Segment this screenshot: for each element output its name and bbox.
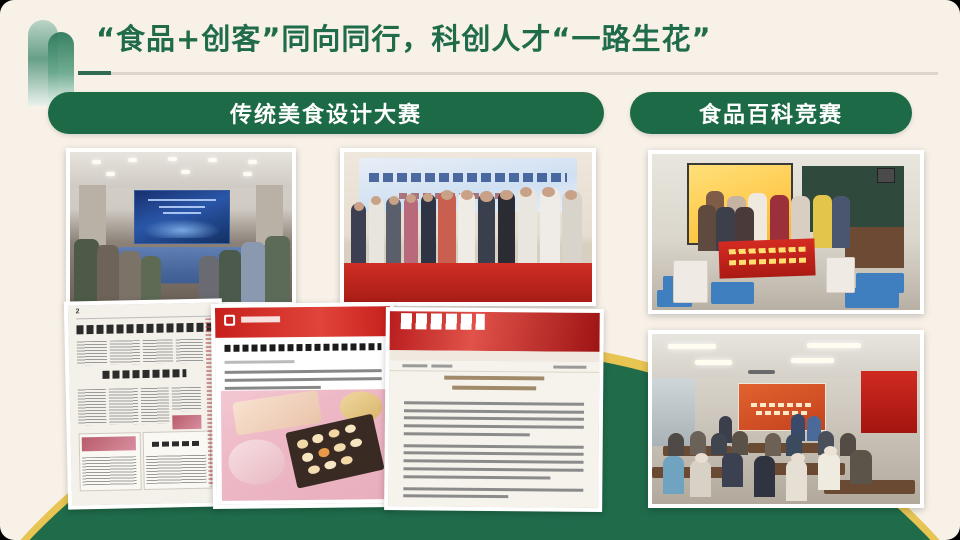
section-banner-food-encyclopedia-competition[interactable]: 食品百科竞赛 [630,92,912,134]
title-divider [78,72,938,75]
photo-group[interactable] [340,148,596,306]
page-title: “食品+创客”同向同行，科创人才“一路生花” [96,16,712,58]
title-divider-accent [78,71,111,75]
photo-lecture[interactable] [648,330,924,508]
photo-classroom[interactable] [648,150,924,314]
photo-article[interactable] [211,302,396,509]
section-banner-traditional-food-design-contest[interactable]: 传统美食设计大赛 [48,92,604,134]
photo-conference[interactable] [66,148,296,306]
slide-canvas: “食品+创客”同向同行，科创人才“一路生花” 传统美食设计大赛 食品百科竞赛 [0,0,960,540]
photo-newspaper[interactable]: 2 [64,298,226,509]
photo-digital[interactable] [384,307,604,512]
